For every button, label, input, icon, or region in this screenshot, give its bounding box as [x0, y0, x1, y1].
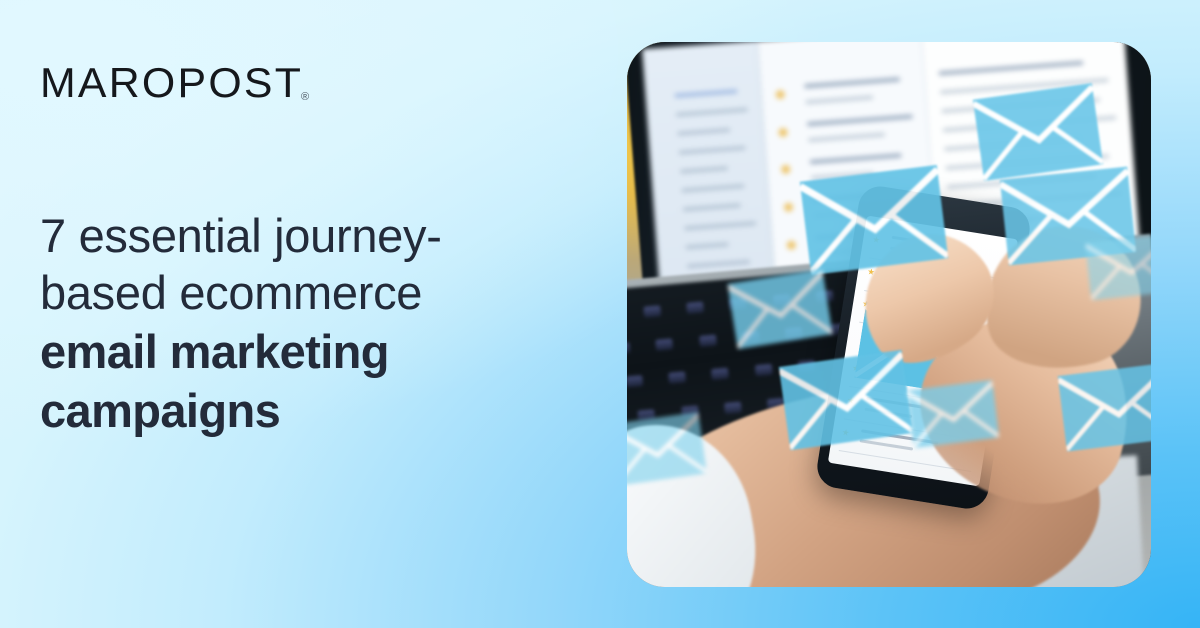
envelope-icon-6 — [907, 380, 999, 448]
envelope-icon-2 — [800, 165, 948, 275]
headline-line-3: email marketing — [40, 323, 560, 380]
left-content-column: MAROPOST ® 7 essential journey- based ec… — [0, 0, 600, 628]
hero-photo: 5 — [627, 42, 1151, 587]
headline-line-2: based ecommerce — [40, 264, 560, 321]
photo-inner: 5 — [627, 42, 1151, 587]
promo-banner: MAROPOST ® 7 essential journey- based ec… — [0, 0, 1200, 628]
maropost-logo: MAROPOST ® — [40, 62, 309, 104]
logo-wordmark: MAROPOST — [40, 62, 303, 104]
envelope-icon-5 — [779, 350, 913, 450]
headline: 7 essential journey- based ecommerce ema… — [40, 207, 560, 439]
envelope-icon-9 — [1085, 234, 1151, 301]
envelope-icon-7 — [1058, 362, 1151, 451]
envelope-icon-1 — [973, 83, 1103, 181]
headline-line-4: campaigns — [40, 382, 560, 439]
headline-line-1: 7 essential journey- — [40, 207, 560, 264]
